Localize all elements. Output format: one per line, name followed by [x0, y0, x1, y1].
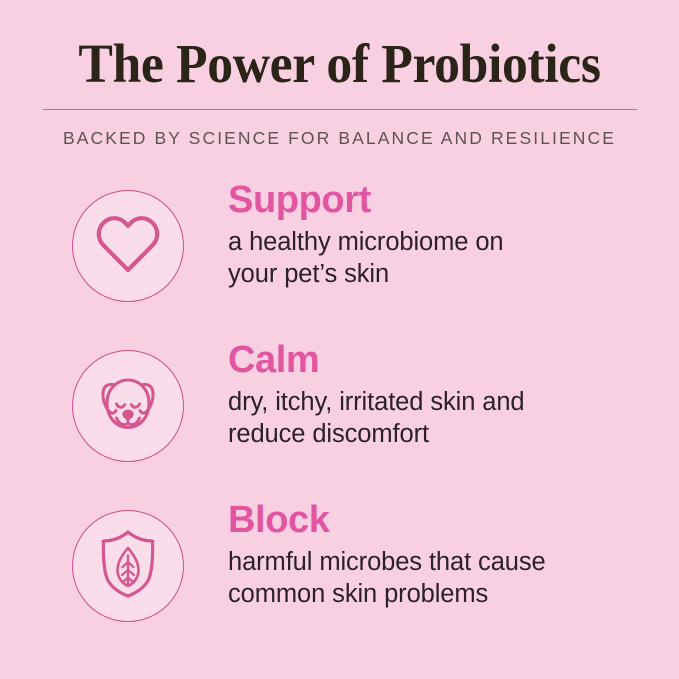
feature-description-line: your pet’s skin — [228, 258, 658, 290]
dog-face-icon — [92, 370, 164, 443]
feature-description-line: dry, itchy, irritated skin and — [228, 386, 658, 418]
probiotics-benefits-poster: The Power of Probiotics BACKED BY SCIENC… — [0, 0, 679, 679]
page-title: The Power of Probiotics — [20, 34, 658, 94]
feature-description: dry, itchy, irritated skin and reduce di… — [228, 386, 658, 450]
feature-text: Calm dry, itchy, irritated skin and redu… — [228, 338, 658, 450]
header-divider — [43, 109, 637, 110]
feature-description-line: a healthy microbiome on — [228, 226, 658, 258]
page-subtitle: BACKED BY SCIENCE FOR BALANCE AND RESILI… — [0, 128, 679, 149]
feature-item-support: Support a healthy microbiome on your pet… — [0, 178, 679, 338]
feature-item-block: Block harmful microbes that cause common… — [0, 498, 679, 658]
heart-icon — [93, 212, 163, 281]
feature-description-line: harmful microbes that cause — [228, 546, 658, 578]
feature-description-line: reduce discomfort — [228, 418, 658, 450]
feature-text: Support a healthy microbiome on your pet… — [228, 178, 658, 290]
shield-leaf-icon — [96, 528, 160, 605]
feature-description-line: common skin problems — [228, 578, 658, 610]
feature-icon-wrap — [72, 350, 184, 462]
feature-icon-wrap — [72, 510, 184, 622]
poster-header: The Power of Probiotics BACKED BY SCIENC… — [0, 0, 679, 149]
feature-title: Support — [228, 178, 658, 222]
feature-title: Calm — [228, 338, 658, 382]
feature-description: harmful microbes that cause common skin … — [228, 546, 658, 610]
feature-text: Block harmful microbes that cause common… — [228, 498, 658, 610]
feature-description: a healthy microbiome on your pet’s skin — [228, 226, 658, 290]
feature-list: Support a healthy microbiome on your pet… — [0, 178, 679, 658]
feature-title: Block — [228, 498, 658, 542]
feature-item-calm: Calm dry, itchy, irritated skin and redu… — [0, 338, 679, 498]
feature-icon-wrap — [72, 190, 184, 302]
